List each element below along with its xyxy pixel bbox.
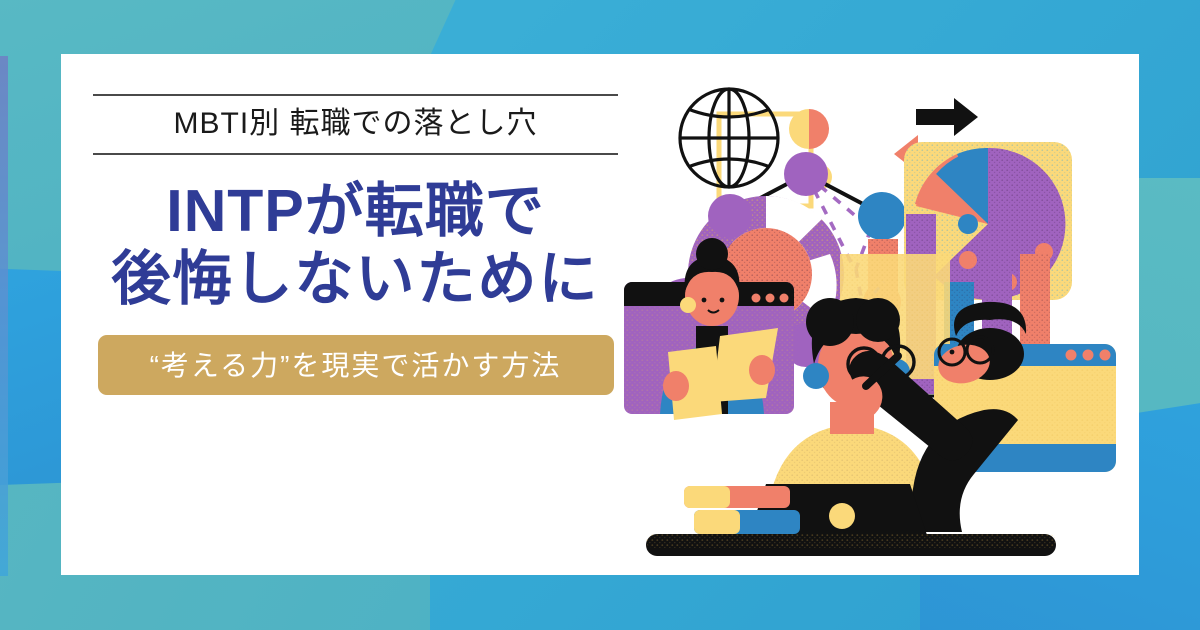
headline-line-1: INTPが転職で — [93, 177, 618, 245]
text-column: MBTI別 転職での落とし穴 INTPが転職で 後悔しないために “考える力”を… — [93, 94, 618, 395]
page-title: INTPが転職で 後悔しないために — [93, 177, 618, 314]
eyebrow-rules: MBTI別 転職での落とし穴 — [93, 94, 618, 155]
desk-surface — [646, 534, 1056, 556]
background-sliver-violet — [0, 56, 8, 576]
window-dots-left — [752, 294, 789, 303]
window-dots — [1066, 350, 1111, 361]
black-right-arrow-icon — [916, 98, 978, 136]
eyebrow-text: MBTI別 転職での落とし穴 — [93, 105, 618, 143]
stacked-books — [684, 486, 800, 534]
content-card: MBTI別 転職での落とし穴 INTPが転職で 後悔しないために “考える力”を… — [61, 54, 1139, 575]
illustration — [616, 64, 1136, 564]
subtitle-ribbon: “考える力”を現実で活かす方法 — [98, 335, 614, 395]
globe-wireframe-icon — [680, 89, 778, 187]
half-pie-dot-icon — [789, 109, 829, 149]
subtitle-text: “考える力”を現実で活かす方法 — [150, 350, 562, 381]
headline-line-2: 後悔しないために — [93, 245, 618, 313]
banner-canvas: MBTI別 転職での落とし穴 INTPが転職で 後悔しないために “考える力”を… — [0, 0, 1200, 630]
